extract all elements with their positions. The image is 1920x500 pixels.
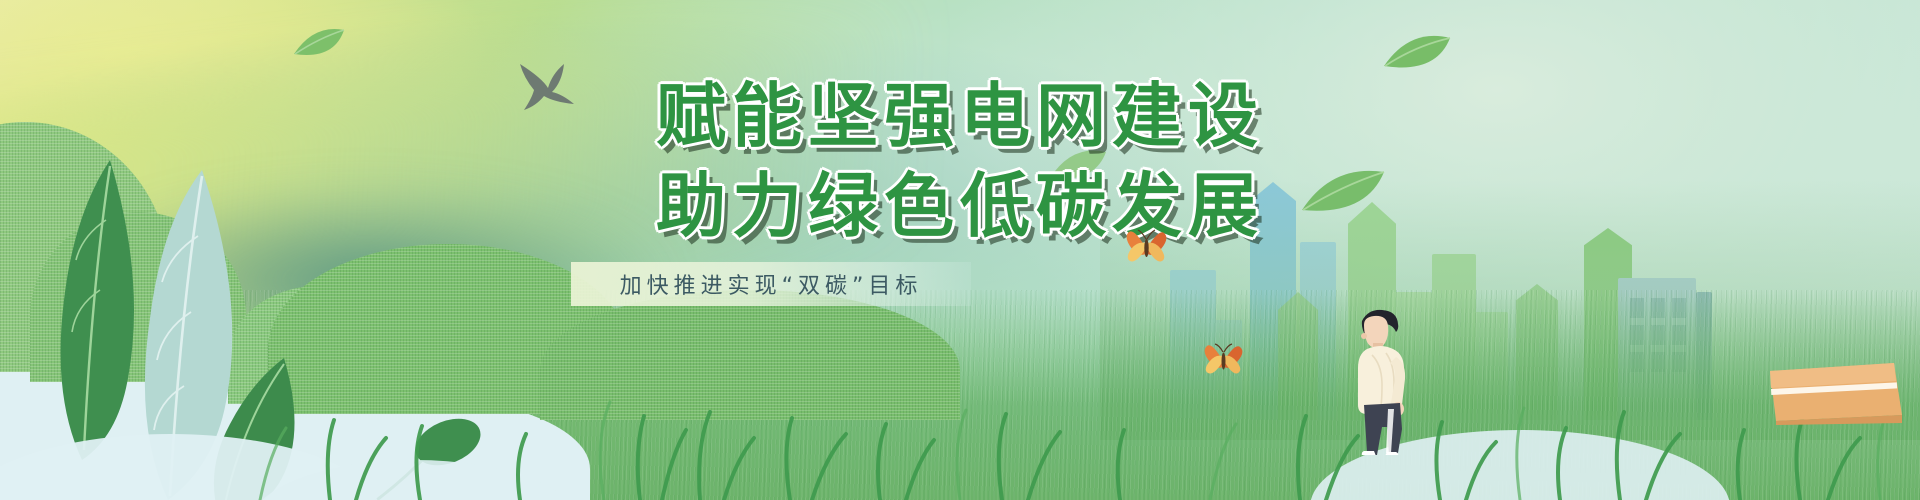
flying-leaf-top-right bbox=[1382, 34, 1452, 79]
subtitle-text: 加快推进实现“双碳”目标 bbox=[620, 268, 923, 300]
eco-grid-banner: 赋能坚强电网建设 助力绿色低碳发展 加快推进实现“双碳”目标 bbox=[0, 0, 1920, 500]
wooden-crate bbox=[1766, 355, 1906, 430]
flying-leaf-top-left bbox=[292, 28, 346, 67]
title-line-1: 赋能坚强电网建设 bbox=[0, 74, 1920, 158]
subtitle-plaque: 加快推进实现“双碳”目标 bbox=[571, 262, 971, 306]
butterfly-near-title-icon bbox=[1126, 226, 1168, 271]
butterfly-lower-right-icon bbox=[1204, 340, 1244, 383]
banner-title-block: 赋能坚强电网建设 助力绿色低碳发展 bbox=[0, 74, 1920, 248]
walking-person bbox=[1342, 305, 1420, 460]
title-line-2: 助力绿色低碳发展 bbox=[0, 164, 1920, 248]
